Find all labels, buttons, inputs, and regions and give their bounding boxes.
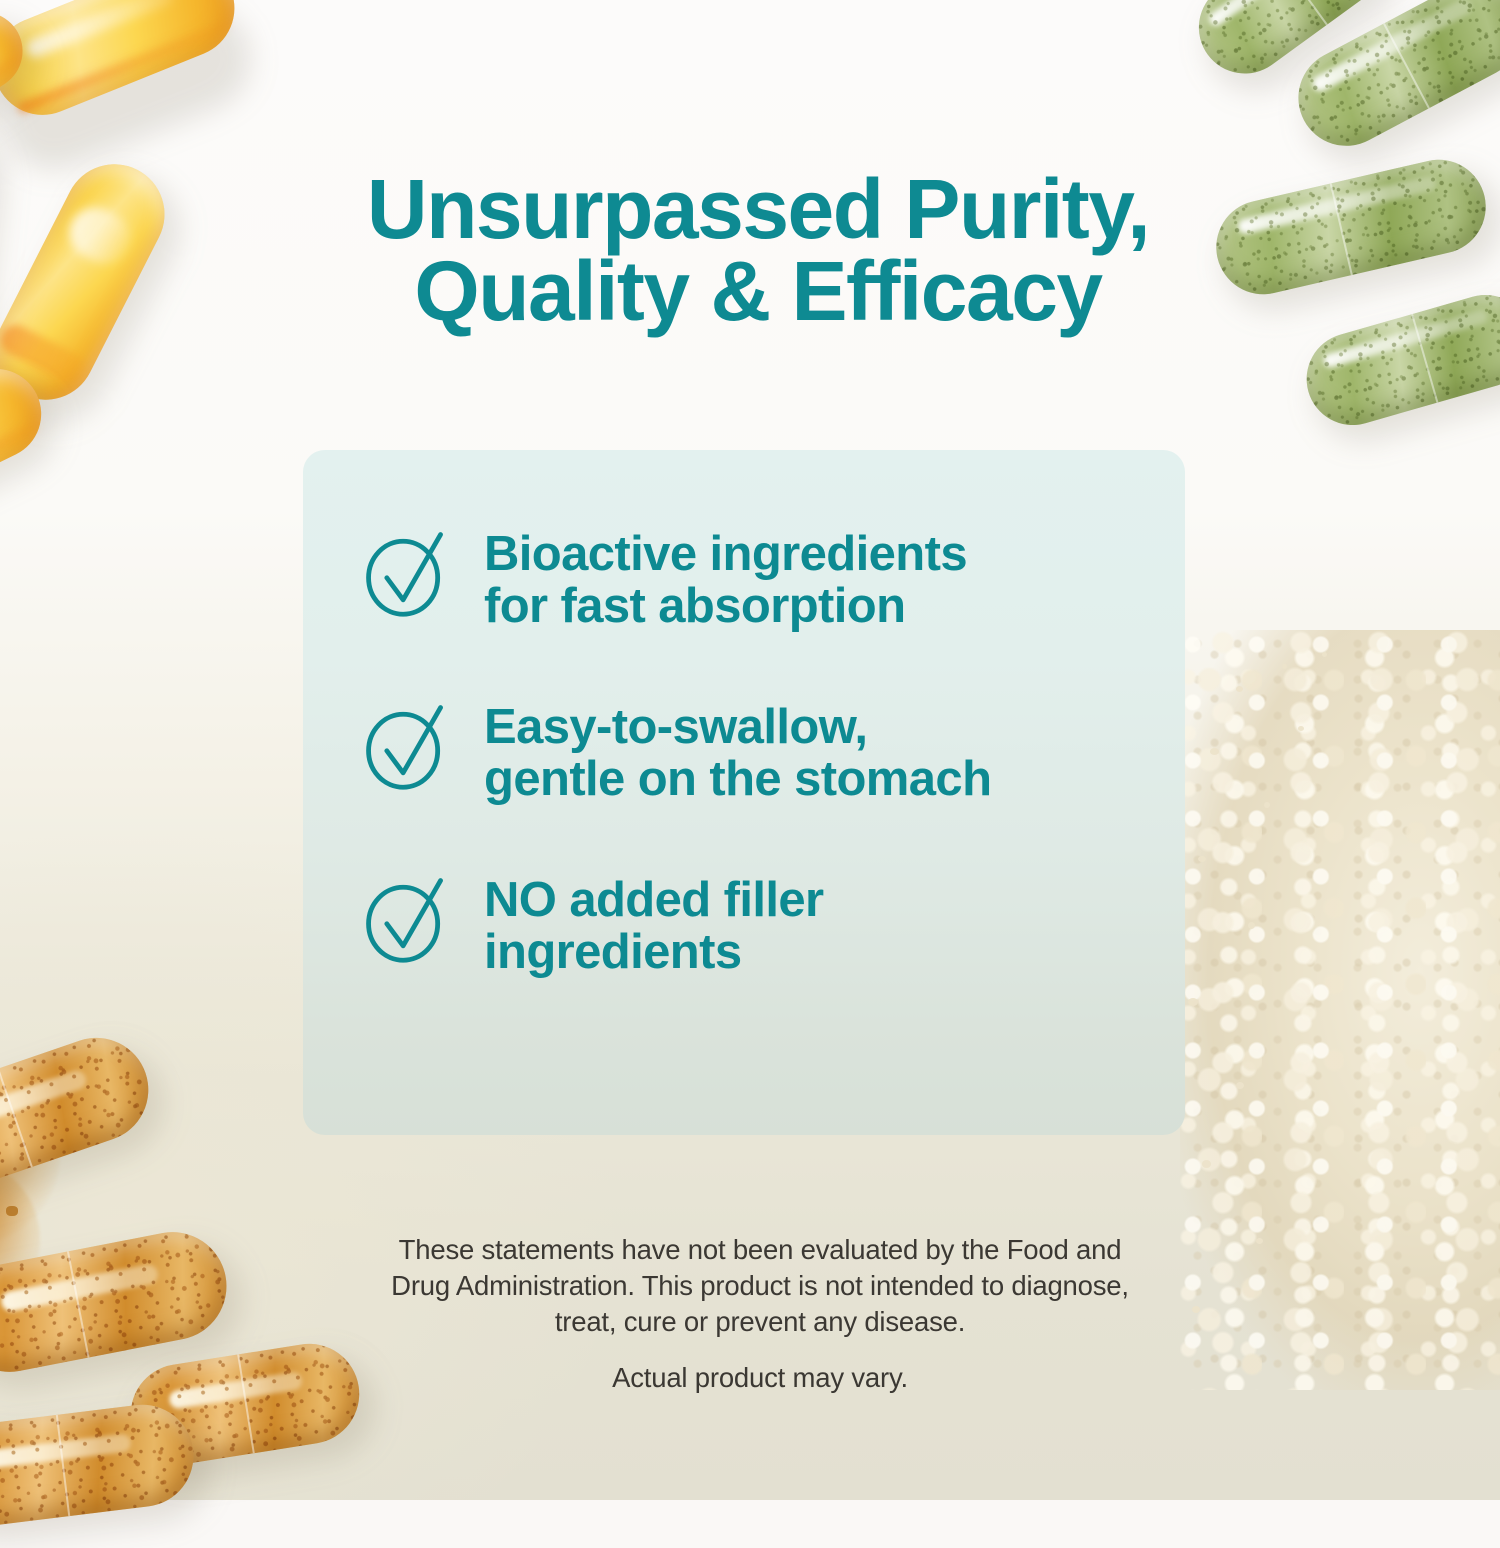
feature-item-bioactive: Bioactive ingredients for fast absorptio… — [358, 522, 1145, 633]
fda-disclaimer-line-3: treat, cure or prevent any disease. — [330, 1304, 1190, 1340]
check-circle-icon — [358, 524, 454, 620]
page-title-line-2: Quality & Efficacy — [318, 250, 1198, 332]
green-capsule — [1296, 284, 1500, 436]
feature-label-line-2: for fast absorption — [484, 580, 967, 632]
green-herbal-capsules-image — [1160, 0, 1500, 500]
golden-softgel-capsules-image — [0, 0, 330, 610]
feature-label-line-2: ingredients — [484, 926, 824, 978]
feature-label: NO added filler ingredients — [484, 868, 824, 979]
check-circle-icon — [358, 697, 454, 793]
feature-item-easy-to-swallow: Easy-to-swallow, gentle on the stomach — [358, 695, 1145, 806]
feature-card: Bioactive ingredients for fast absorptio… — [303, 450, 1185, 1135]
feature-item-no-fillers: NO added filler ingredients — [358, 868, 1145, 979]
fda-disclaimer: These statements have not been evaluated… — [330, 1232, 1190, 1339]
feature-label: Bioactive ingredients for fast absorptio… — [484, 522, 967, 633]
feature-list: Bioactive ingredients for fast absorptio… — [358, 522, 1145, 979]
feature-label-line-1: Bioactive ingredients — [484, 528, 967, 580]
feature-label-line-1: Easy-to-swallow, — [484, 701, 991, 753]
check-circle-icon — [358, 870, 454, 966]
fda-disclaimer-line-1: These statements have not been evaluated… — [330, 1232, 1190, 1268]
fda-disclaimer-line-2: Drug Administration. This product is not… — [330, 1268, 1190, 1304]
turmeric-capsules-image — [0, 1020, 340, 1520]
feature-label-line-1: NO added filler — [484, 874, 824, 926]
page-title-line-1: Unsurpassed Purity, — [318, 168, 1198, 250]
product-variation-note: Actual product may vary. — [330, 1362, 1190, 1394]
protein-powder-pile-image — [1140, 630, 1500, 1390]
page-title: Unsurpassed Purity, Quality & Efficacy — [318, 168, 1198, 333]
feature-label: Easy-to-swallow, gentle on the stomach — [484, 695, 991, 806]
feature-label-line-2: gentle on the stomach — [484, 753, 991, 805]
